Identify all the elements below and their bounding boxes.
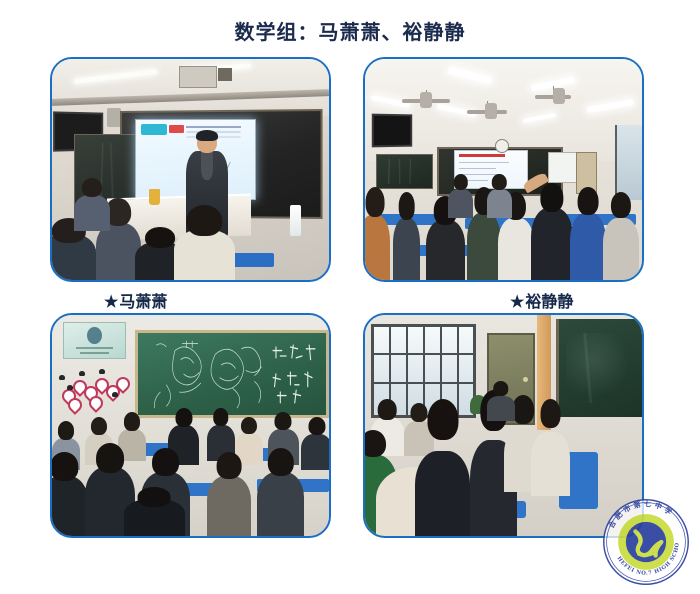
decorated-chalkboard (135, 330, 329, 418)
student-figure (52, 452, 88, 536)
student-figure (570, 187, 606, 280)
star-icon: ★ (104, 292, 118, 311)
photo-top-left (50, 57, 331, 282)
student-figure (124, 487, 185, 536)
classroom-chalkboard-scene (52, 315, 329, 536)
photo-top-right (363, 57, 644, 282)
classroom-wide-scene (365, 59, 642, 280)
school-seal-logo: 合肥市第七中学 HEFEI NO.7 HIGH SCHOOL (598, 494, 694, 590)
white-board (548, 152, 578, 183)
student-figure (207, 452, 251, 536)
wall-flower-decoration (58, 364, 136, 413)
chalk-artwork-icon (146, 338, 319, 410)
caption-top-left: ★马萧萧 (104, 288, 167, 312)
star-icon: ★ (510, 292, 524, 311)
wall-clock-icon (495, 139, 509, 153)
student-figure (531, 399, 570, 496)
caption-label: 马萧萧 (119, 292, 167, 311)
student-figure (174, 205, 235, 280)
page-title: 数学组：马萧萧、裕静静 (0, 16, 700, 45)
poster-page: 数学组：马萧萧、裕静静 (0, 0, 700, 578)
student-figure (415, 399, 470, 536)
classroom-teacher-scene (52, 59, 329, 280)
student-figure (257, 448, 304, 536)
student-figure (448, 174, 473, 218)
student-figure (603, 192, 639, 280)
student-figure (74, 178, 110, 231)
student-figure (487, 381, 515, 421)
caption-top-right: ★裕静静 (510, 288, 573, 312)
caption-label: 裕静静 (525, 292, 573, 311)
student-figure (531, 183, 573, 280)
wall-monitor-icon (371, 114, 411, 148)
window (615, 125, 642, 200)
student-figure (487, 174, 512, 218)
photo-bottom-left (50, 313, 331, 538)
student-figure (301, 417, 329, 470)
student-figure (393, 192, 421, 280)
wall-banner (63, 322, 126, 359)
student-figure (365, 187, 390, 280)
chalkboard (376, 154, 433, 189)
